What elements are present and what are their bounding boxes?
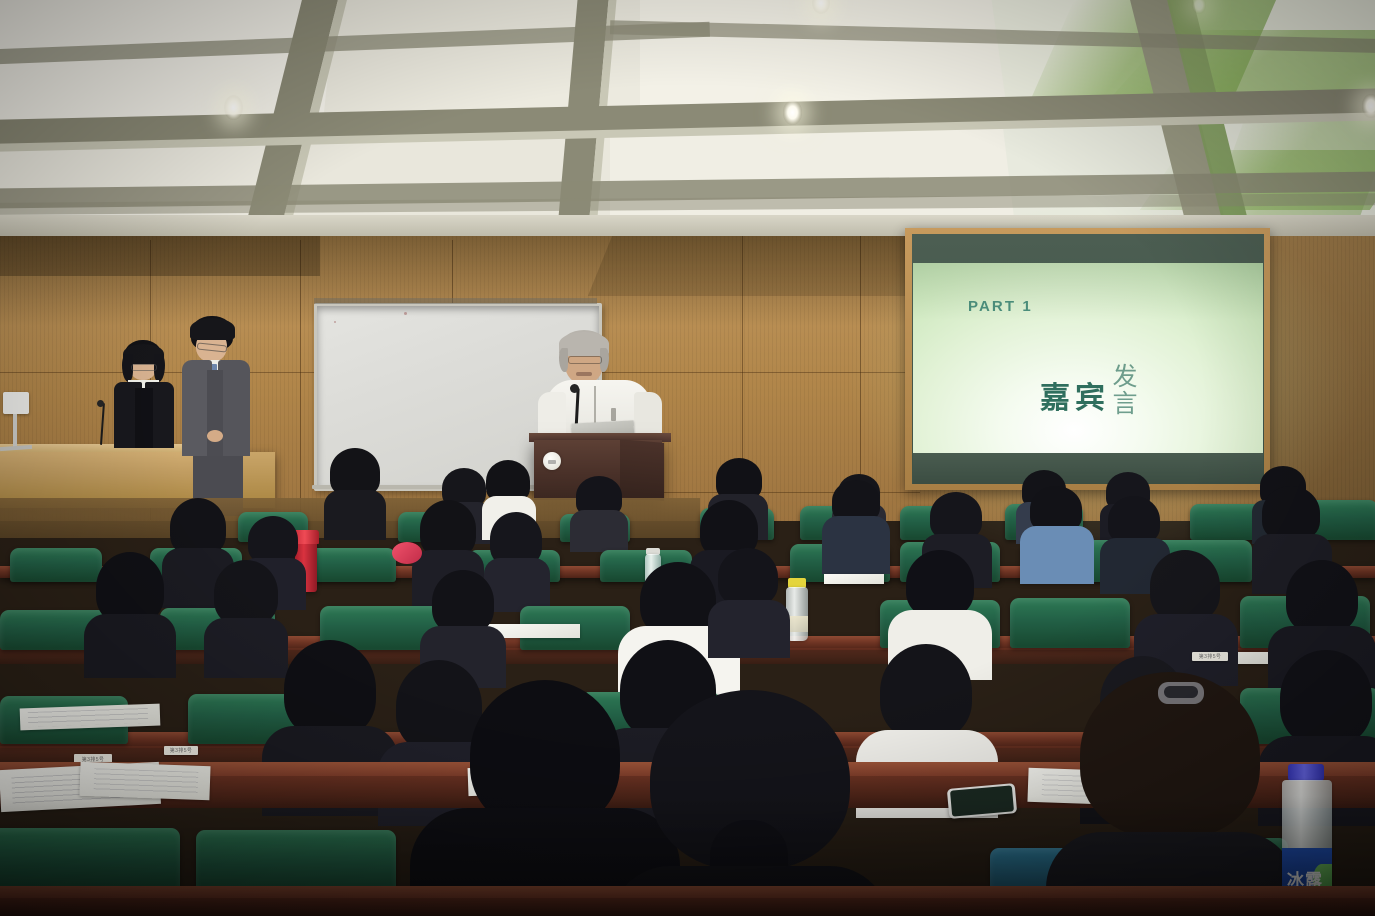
- ceiling-downlight: [783, 100, 802, 125]
- slide-heading-main: 嘉宾: [1040, 373, 1110, 417]
- seat-number-text: 第3排5号: [170, 747, 193, 754]
- seat-number-plate: 第3排5号: [1192, 652, 1228, 661]
- ceiling-downlight: [224, 95, 243, 120]
- projection-screen: PART 1 嘉宾 发言: [913, 263, 1263, 453]
- ceiling: [0, 0, 1375, 232]
- slide-heading-secondary: 发言: [1105, 363, 1141, 417]
- av-equipment-stand: [3, 392, 29, 414]
- seat-number-text: 第3排5号: [1199, 653, 1222, 660]
- hair-scrunchie: [392, 542, 422, 564]
- podium-emblem: [543, 452, 561, 470]
- seat-number-plate: 第3排5号: [164, 746, 198, 755]
- white-smartphone[interactable]: [947, 783, 1017, 819]
- slide-part-label: PART 1: [968, 298, 1033, 315]
- bottle-cap: [1288, 764, 1324, 781]
- lecture-hall-photo: PART 1 嘉宾 发言: [0, 0, 1375, 916]
- ceiling-downlight: [1362, 94, 1375, 118]
